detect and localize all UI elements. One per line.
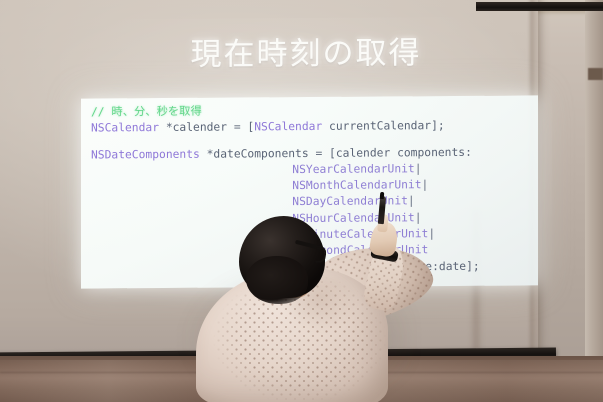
presenter <box>0 0 603 402</box>
pen-tip-icon <box>380 192 385 199</box>
presenter-hair <box>246 256 308 304</box>
presentation-photo-scene: 現在時刻の取得 // 時、分、秒を取得NSCalendar *calender … <box>0 0 603 402</box>
